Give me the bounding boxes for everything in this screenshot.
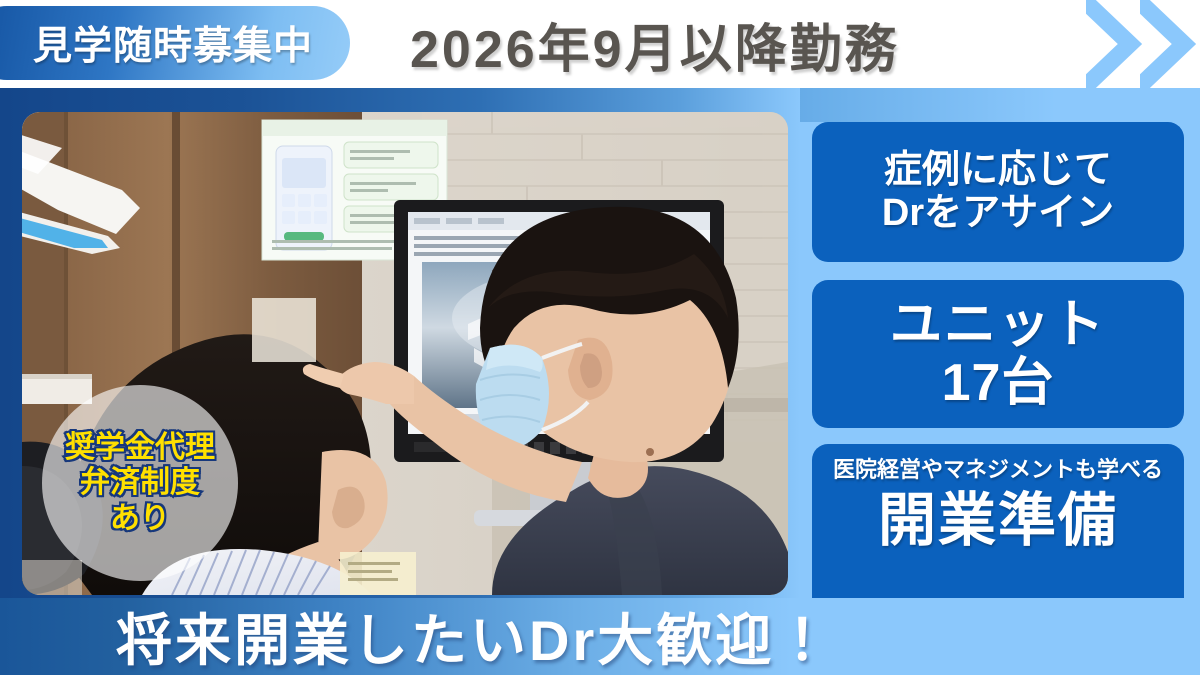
visit-anytime-label: 見学随時募集中 [33,15,313,71]
bottom-banner: 将来開業したいDr大歓迎！ [0,598,1200,675]
case-assignment-box: 症例に応じて Drをアサイン [812,122,1184,262]
startup-support-subtitle: 医院経営やマネジメントも学べる [833,458,1163,483]
employment-start-headline: 2026年9月以降勤務 [410,9,900,79]
badge-line-3: あり [110,502,170,536]
bottom-banner-text: 将来開業したいDr大歓迎！ [116,596,833,675]
unit-count-box: ユニット 17台 [812,280,1184,428]
chevron-right-icon [1086,0,1142,88]
case-assignment-line-2: Drをアサイン [882,192,1114,235]
startup-support-box: 医院経営やマネジメントも学べる 開業準備 [812,444,1184,604]
startup-support-title: 開業準備 [878,489,1118,554]
unit-count-line-2: 17台 [942,354,1055,412]
header-bar: 見学随時募集中 2026年9月以降勤務 [0,0,1200,88]
visit-anytime-pill: 見学随時募集中 [0,6,350,80]
chevron-right-icon [1140,0,1196,88]
badge-line-2: 弁済制度 [80,466,200,500]
badge-line-1: 奨学金代理 [65,431,215,465]
recruitment-banner: 見学随時募集中 2026年9月以降勤務 [0,0,1200,675]
unit-count-line-1: ユニット [890,296,1106,354]
case-assignment-line-1: 症例に応じて [884,149,1112,192]
scholarship-repayment-badge: 奨学金代理 弁済制度 あり [42,385,238,581]
